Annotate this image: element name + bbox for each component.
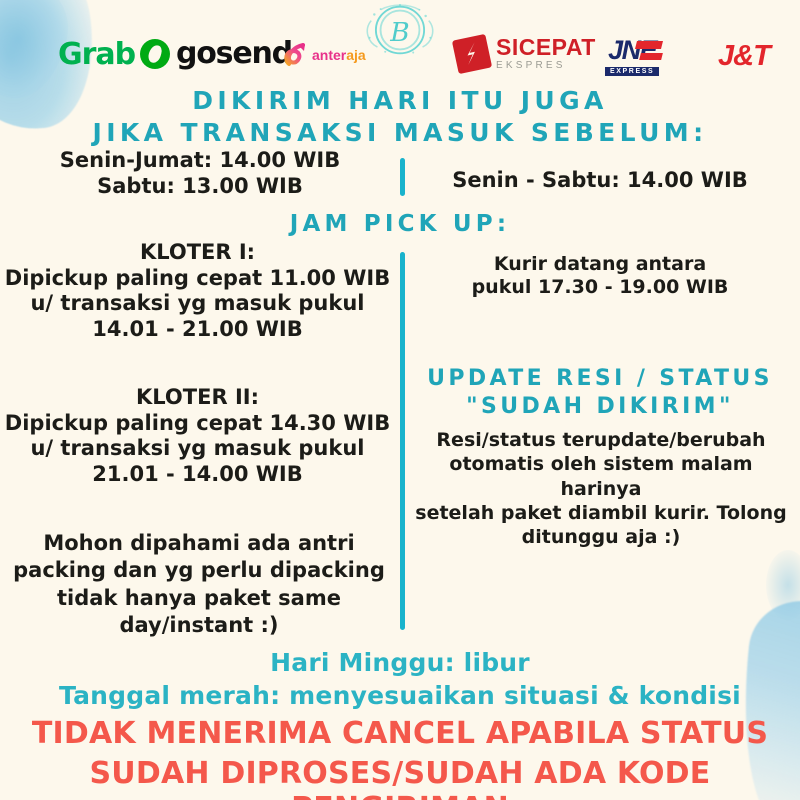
packing-note-line-3: tidak hanya paket same: [10, 585, 388, 612]
jnt-logo: J&T: [718, 42, 770, 71]
update-resi-line-3: setelah paket diambil kurir. Tolong: [410, 501, 792, 525]
shipping-info-poster: B Grab gosend: [0, 0, 800, 800]
divider-short: [400, 158, 405, 196]
gosend-logo: gosend: [140, 39, 292, 69]
sicepat-logo: SICEPAT EKSPRES: [455, 36, 596, 71]
kloter-2-title: KLOTER II:: [0, 385, 395, 411]
gosend-logo-text: gosend: [176, 39, 292, 69]
kloter-1-title: KLOTER I:: [0, 240, 395, 266]
anteraja-logo-text-b: aja: [346, 47, 365, 63]
kloter-2-line-4: 21.01 - 14.00 WIB: [0, 462, 395, 488]
warning-line-2: SUDAH DIPROSES/SUDAH ADA KODE PENGIRIMAN: [0, 756, 800, 800]
update-resi-heading-1: UPDATE RESI / STATUS: [400, 366, 800, 391]
anteraja-logo-text-a: anter: [312, 47, 346, 63]
headline-line-1: DIKIRIM HARI ITU JUGA: [0, 86, 800, 115]
update-resi-line-2: otomatis oleh sistem malam harinya: [410, 452, 792, 501]
cutoff-left-block: Senin-Jumat: 14.00 WIB Sabtu: 13.00 WIB: [10, 148, 390, 199]
schedule-note-holiday: Tanggal merah: menyesuaikan situasi & ko…: [0, 681, 800, 710]
jne-bar-icon: [635, 41, 663, 49]
anteraja-logo-text: anteraja: [312, 48, 366, 62]
cutoff-left-line-2: Sabtu: 13.00 WIB: [10, 174, 390, 200]
warning-line-1: TIDAK MENERIMA CANCEL APABILA STATUS: [0, 716, 800, 751]
packing-note-block: Mohon dipahami ada antri packing dan yg …: [10, 530, 388, 639]
kloter-1-line-3: u/ transaksi yg masuk pukul: [0, 291, 395, 317]
kurir-arrival-block: Kurir datang antara pukul 17.30 - 19.00 …: [410, 253, 790, 299]
kloter-1-line-4: 14.01 - 21.00 WIB: [0, 317, 395, 343]
packing-note-line-2: packing dan yg perlu dipacking: [10, 557, 388, 584]
cutoff-right-line-1: Senin - Sabtu: 14.00 WIB: [410, 168, 790, 194]
jne-logo: JNE EXPRESS: [605, 37, 659, 76]
jnt-logo-text: J&T: [718, 42, 770, 71]
kurir-line-2: pukul 17.30 - 19.00 WIB: [410, 276, 790, 299]
sicepat-mark-icon: [452, 33, 492, 73]
jne-logo-subtext: EXPRESS: [605, 67, 659, 76]
kloter-2-line-2: Dipickup paling cepat 14.30 WIB: [0, 411, 395, 437]
gosend-mark-icon: [140, 39, 170, 69]
anteraja-mark-icon: [283, 42, 309, 68]
schedule-note-sunday: Hari Minggu: libur: [0, 648, 800, 677]
divider-long: [400, 252, 405, 630]
anteraja-logo: anteraja: [283, 42, 366, 68]
courier-logo-strip: Grab gosend: [0, 34, 800, 90]
kurir-line-1: Kurir datang antara: [410, 253, 790, 276]
cutoff-right-block: Senin - Sabtu: 14.00 WIB: [410, 168, 790, 194]
kloter-1-block: KLOTER I: Dipickup paling cepat 11.00 WI…: [0, 240, 395, 342]
watercolor-blob-bottom-right-accent: [766, 550, 800, 620]
update-resi-body: Resi/status terupdate/berubah otomatis o…: [410, 428, 792, 550]
sicepat-logo-subtext: EKSPRES: [496, 61, 596, 71]
pickup-heading: JAM PICK UP:: [0, 211, 800, 237]
kloter-1-line-2: Dipickup paling cepat 11.00 WIB: [0, 266, 395, 292]
jne-bar-secondary-icon: [639, 53, 663, 60]
headline-line-2: JIKA TRANSAKSI MASUK SEBELUM:: [0, 118, 800, 147]
kloter-2-block: KLOTER II: Dipickup paling cepat 14.30 W…: [0, 385, 395, 487]
grab-logo: Grab: [58, 40, 135, 70]
cutoff-left-line-1: Senin-Jumat: 14.00 WIB: [10, 148, 390, 174]
packing-note-line-4: day/instant :): [10, 612, 388, 639]
sicepat-logo-text: SICEPAT: [496, 36, 596, 59]
update-resi-line-4: ditunggu aja :): [410, 525, 792, 549]
packing-note-line-1: Mohon dipahami ada antri: [10, 530, 388, 557]
update-resi-line-1: Resi/status terupdate/berubah: [410, 428, 792, 452]
kloter-2-line-3: u/ transaksi yg masuk pukul: [0, 436, 395, 462]
grab-logo-text: Grab: [58, 40, 135, 70]
update-resi-heading-2: "SUDAH DIKIRIM": [400, 394, 800, 419]
